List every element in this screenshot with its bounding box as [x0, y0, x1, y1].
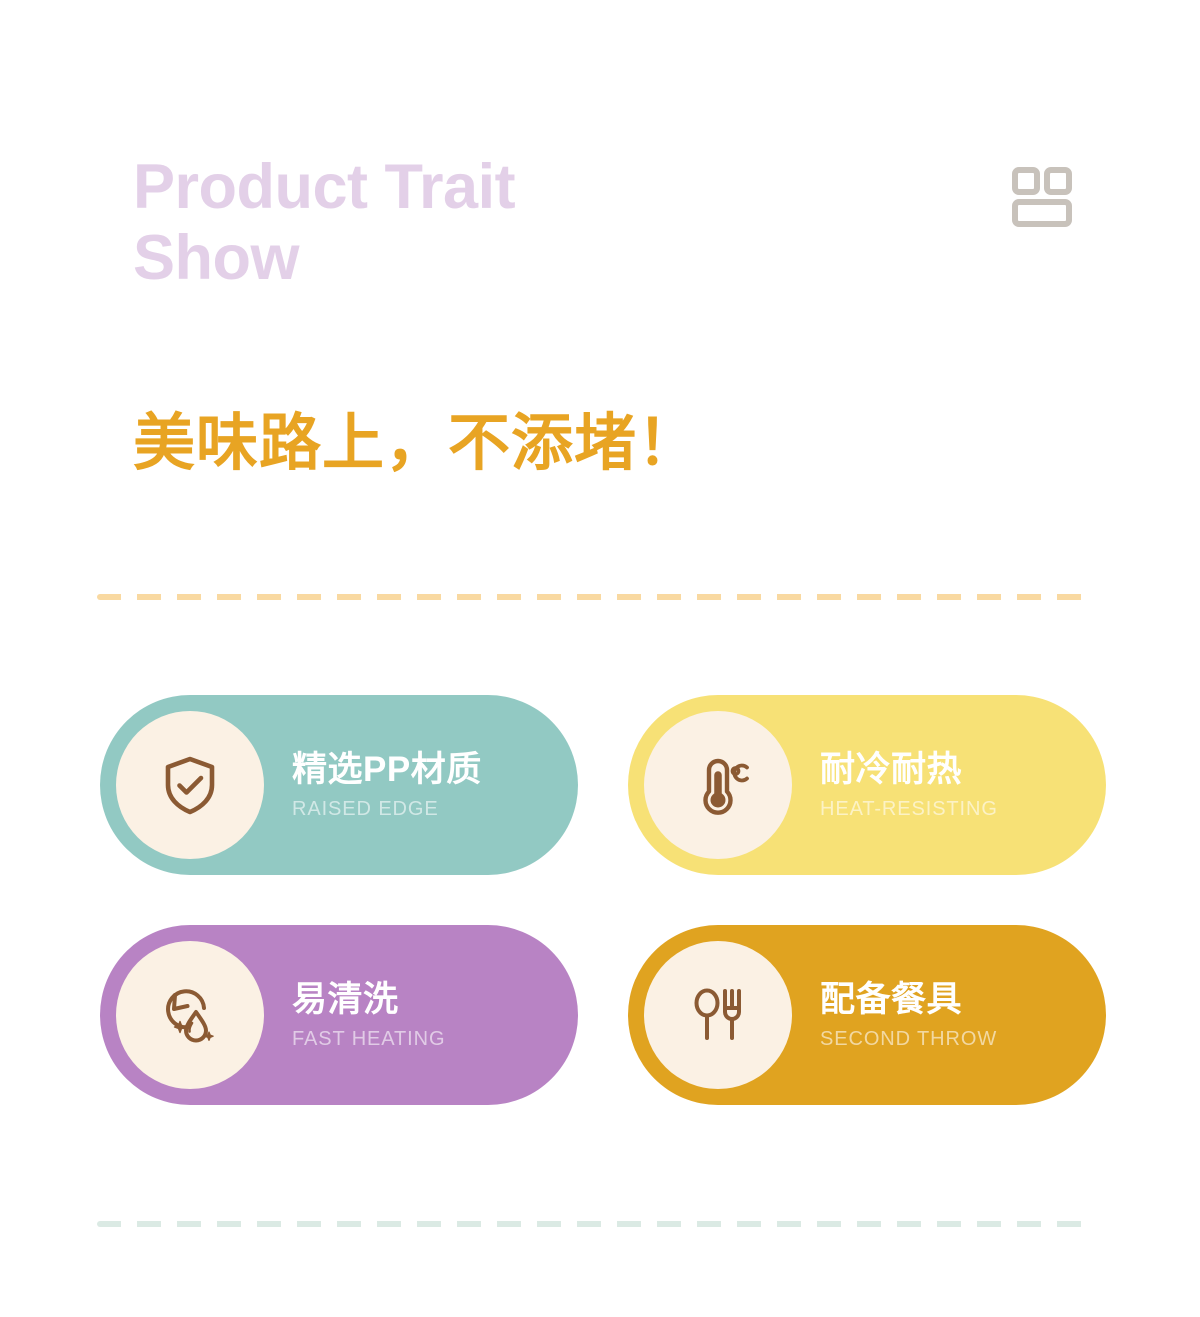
feature-text: 易清洗 FAST HEATING: [292, 979, 445, 1052]
shield-check-icon: [158, 753, 222, 817]
feature-icon-badge: [644, 941, 792, 1089]
page-title-english: Product Trait Show: [133, 152, 693, 293]
feature-title: 配备餐具: [820, 979, 997, 1022]
feature-card-easy-clean[interactable]: 易清洗 FAST HEATING: [100, 925, 578, 1105]
feature-icon-badge: [116, 711, 264, 859]
water-drop-refresh-icon: [158, 983, 222, 1047]
feature-subtitle: RAISED EDGE: [292, 798, 482, 821]
product-trait-show-page: Product Trait Show 美味路上，不添堵！: [0, 0, 1200, 1317]
feature-text: 耐冷耐热 HEAT-RESISTING: [820, 749, 998, 822]
feature-grid: 精选PP材质 RAISED EDGE 耐冷耐热 HEA: [100, 695, 1106, 1105]
thermometer-celsius-icon: [686, 753, 750, 817]
feature-subtitle: SECOND THROW: [820, 1028, 997, 1051]
feature-text: 精选PP材质 RAISED EDGE: [292, 749, 482, 822]
spoon-fork-icon: [686, 983, 750, 1047]
page-title-chinese: 美味路上，不添堵！: [133, 410, 700, 478]
feature-icon-badge: [644, 711, 792, 859]
feature-card-pp-material[interactable]: 精选PP材质 RAISED EDGE: [100, 695, 578, 875]
feature-subtitle: HEAT-RESISTING: [820, 798, 998, 821]
divider-top: [97, 594, 1095, 600]
grid-layout-icon[interactable]: [1011, 166, 1073, 228]
feature-card-heat-resisting[interactable]: 耐冷耐热 HEAT-RESISTING: [628, 695, 1106, 875]
feature-title: 易清洗: [292, 979, 445, 1022]
feature-title: 精选PP材质: [292, 749, 482, 792]
feature-card-utensils[interactable]: 配备餐具 SECOND THROW: [628, 925, 1106, 1105]
page-header: Product Trait Show: [133, 152, 1073, 293]
feature-subtitle: FAST HEATING: [292, 1028, 445, 1051]
feature-title: 耐冷耐热: [820, 749, 998, 792]
feature-text: 配备餐具 SECOND THROW: [820, 979, 997, 1052]
divider-bottom: [97, 1221, 1095, 1227]
feature-icon-badge: [116, 941, 264, 1089]
